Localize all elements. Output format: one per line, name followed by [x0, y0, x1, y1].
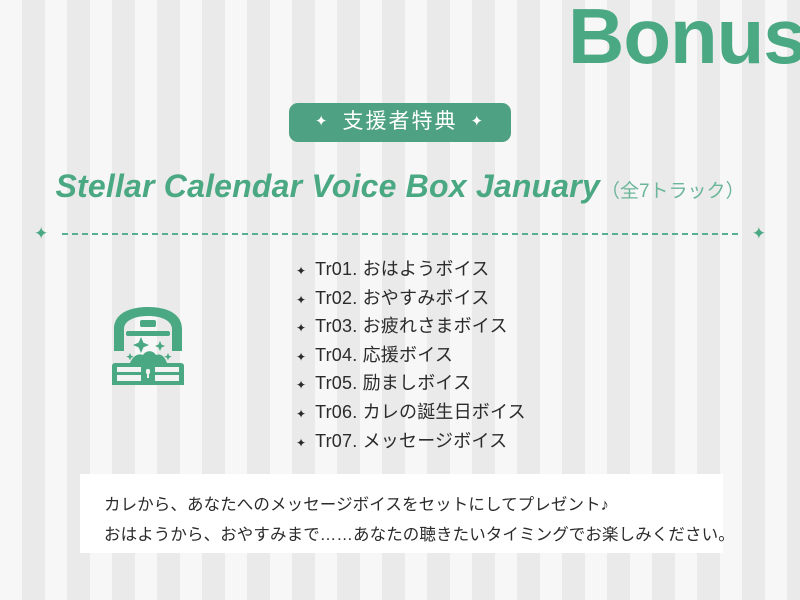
track-list: ✦ Tr01. おはようボイス ✦ Tr02. おやすみボイス ✦ Tr03. …: [296, 255, 526, 455]
sparkle-bullet-icon: ✦: [296, 351, 306, 363]
track-list-item: ✦ Tr06. カレの誕生日ボイス: [296, 398, 526, 427]
track-label: Tr07. メッセージボイス: [315, 427, 507, 456]
badge-container: ✦ 支援者特典 ✦: [0, 103, 800, 142]
track-label: Tr02. おやすみボイス: [315, 284, 489, 313]
supporter-perk-badge: ✦ 支援者特典 ✦: [289, 103, 511, 142]
product-title-main: Stellar Calendar Voice Box January: [55, 168, 600, 205]
track-label: Tr06. カレの誕生日ボイス: [315, 398, 526, 427]
track-list-item: ✦ Tr01. おはようボイス: [296, 255, 526, 284]
content-row: ✦ Tr01. おはようボイス ✦ Tr02. おやすみボイス ✦ Tr03. …: [0, 255, 800, 455]
sparkle-bullet-icon: ✦: [296, 379, 306, 391]
product-title-track-count: （全7トラック）: [601, 176, 745, 203]
sparkle-bullet-icon: ✦: [296, 437, 306, 449]
sparkle-icon-right: ✦: [471, 114, 486, 129]
track-list-item: ✦ Tr04. 応援ボイス: [296, 341, 526, 370]
sparkle-bullet-icon: ✦: [296, 322, 306, 334]
track-label: Tr05. 励ましボイス: [315, 369, 471, 398]
sparkle-icon-left: ✦: [315, 114, 330, 129]
track-list-item: ✦ Tr03. お疲れさまボイス: [296, 312, 526, 341]
divider-dashed-line: [62, 233, 738, 235]
sparkle-bullet-icon: ✦: [296, 408, 306, 420]
track-label: Tr04. 応援ボイス: [315, 341, 453, 370]
divider-sparkle-icon-left: ✦: [34, 225, 48, 242]
track-list-item: ✦ Tr02. おやすみボイス: [296, 284, 526, 313]
page-title-bonus: Bonus: [568, 0, 800, 78]
divider-sparkle-icon-right: ✦: [752, 225, 766, 242]
sparkle-bullet-icon: ✦: [296, 265, 306, 277]
product-title: Stellar Calendar Voice Box January （全7トラ…: [0, 168, 800, 205]
note-box: カレから、あなたへのメッセージボイスをセットにしてプレゼント♪ おはようから、お…: [80, 474, 723, 553]
track-list-item: ✦ Tr05. 励ましボイス: [296, 369, 526, 398]
bonus-page: Bonus ✦ 支援者特典 ✦ Stellar Calendar Voice B…: [0, 0, 800, 600]
note-line-1: カレから、あなたへのメッセージボイスをセットにしてプレゼント♪: [104, 490, 699, 520]
divider: ✦ ✦: [34, 225, 766, 242]
track-label: Tr01. おはようボイス: [315, 255, 489, 284]
chest-column: [0, 255, 296, 391]
sparkle-bullet-icon: ✦: [296, 294, 306, 306]
track-list-item: ✦ Tr07. メッセージボイス: [296, 427, 526, 456]
supporter-perk-badge-label: 支援者特典: [343, 110, 458, 133]
track-label: Tr03. お疲れさまボイス: [315, 312, 508, 341]
note-line-2: おはようから、おやすみまで……あなたの聴きたいタイミングでお楽しみください。: [104, 520, 699, 550]
treasure-chest-icon: [100, 295, 196, 391]
